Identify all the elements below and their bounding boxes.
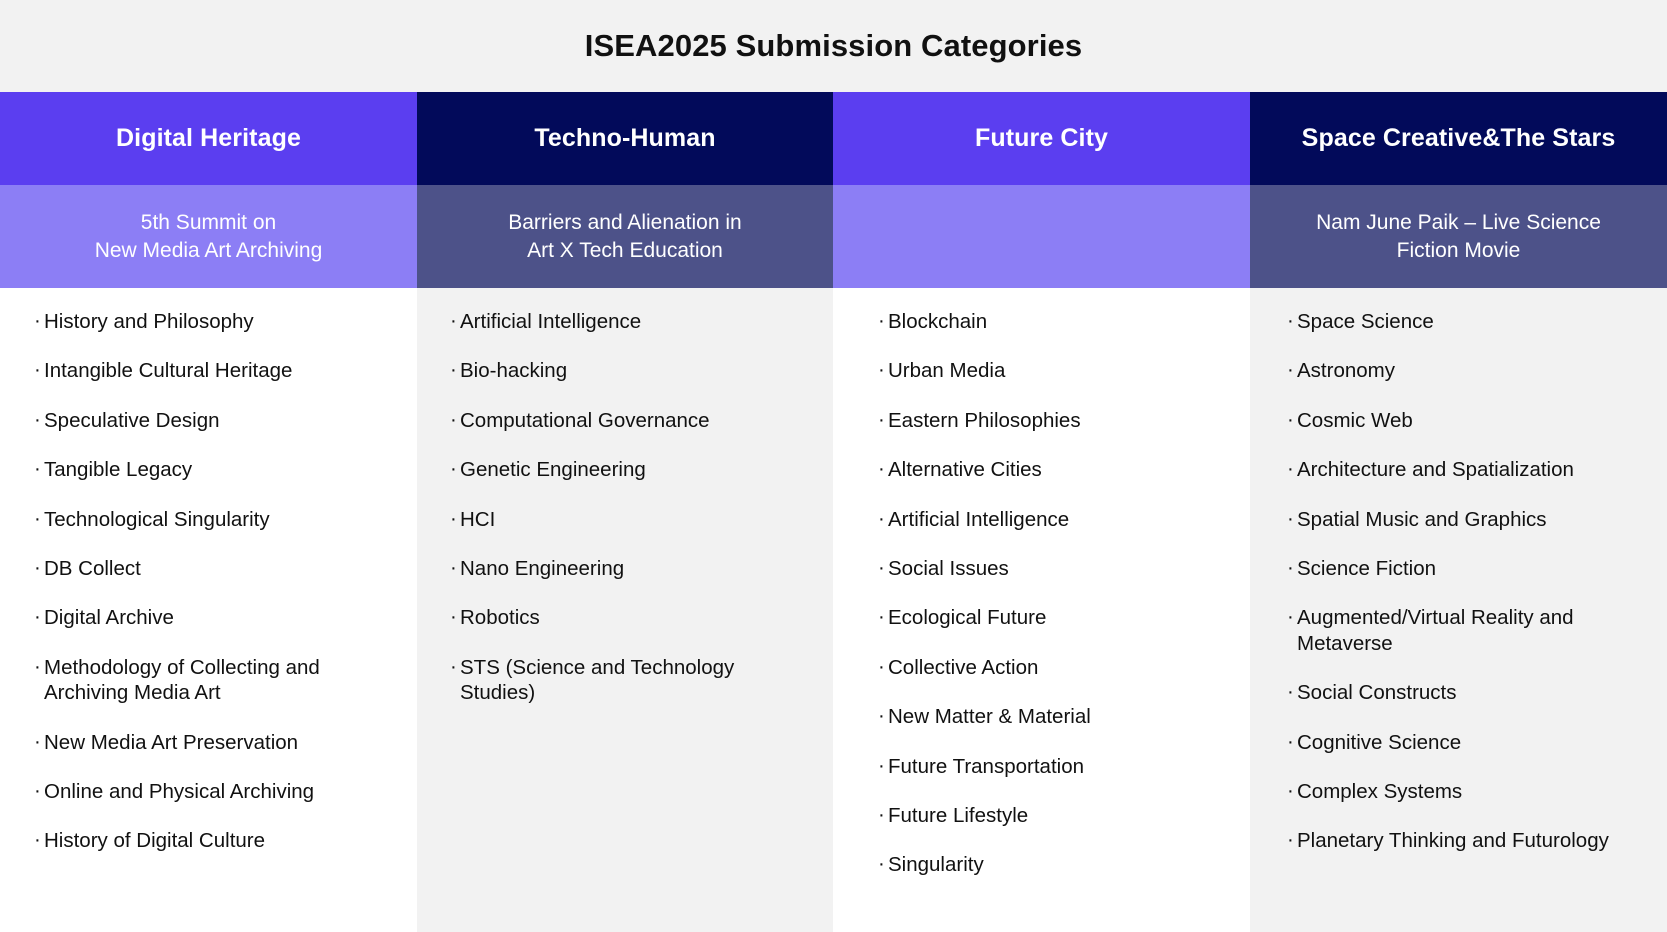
category-column-future-city: Future City BlockchainUrban MediaEastern… bbox=[833, 92, 1250, 932]
category-body-space-creative: Space ScienceAstronomyCosmic WebArchitec… bbox=[1250, 288, 1667, 932]
topic-item: Robotics bbox=[449, 605, 819, 630]
category-column-digital-heritage: Digital Heritage 5th Summit on New Media… bbox=[0, 92, 417, 932]
topic-item: Tangible Legacy bbox=[33, 457, 403, 482]
topic-item: DB Collect bbox=[33, 556, 403, 581]
topic-item: Space Science bbox=[1286, 309, 1653, 334]
category-title-digital-heritage: Digital Heritage bbox=[116, 124, 301, 153]
topic-item: Planetary Thinking and Futurology bbox=[1286, 828, 1653, 853]
category-body-digital-heritage: History and PhilosophyIntangible Cultura… bbox=[0, 288, 417, 932]
category-body-techno-human: Artificial IntelligenceBio-hackingComput… bbox=[417, 288, 833, 932]
topic-item: Astronomy bbox=[1286, 358, 1653, 383]
topic-item: STS (Science and Technology Studies) bbox=[449, 655, 819, 706]
topic-item: Artificial Intelligence bbox=[877, 507, 1236, 532]
topic-item: Future Lifestyle bbox=[877, 803, 1236, 828]
category-subtitle-cell-techno-human: Barriers and Alienation in Art X Tech Ed… bbox=[417, 185, 833, 288]
topic-item: Complex Systems bbox=[1286, 779, 1653, 804]
topic-item: Artificial Intelligence bbox=[449, 309, 819, 334]
category-subtitle-cell-digital-heritage: 5th Summit on New Media Art Archiving bbox=[0, 185, 417, 288]
category-subtitle-digital-heritage: 5th Summit on New Media Art Archiving bbox=[95, 209, 323, 264]
category-header-digital-heritage: Digital Heritage bbox=[0, 92, 417, 185]
category-column-techno-human: Techno-Human Barriers and Alienation in … bbox=[417, 92, 833, 932]
category-title-space-creative: Space Creative&The Stars bbox=[1302, 124, 1616, 153]
topic-item: Collective Action bbox=[877, 655, 1236, 680]
topic-item: Online and Physical Archiving bbox=[33, 779, 403, 804]
topic-item: Eastern Philosophies bbox=[877, 408, 1236, 433]
submission-categories-page: ISEA2025 Submission Categories Digital H… bbox=[0, 0, 1667, 932]
topic-list-future-city: BlockchainUrban MediaEastern Philosophie… bbox=[877, 309, 1236, 878]
category-column-space-creative: Space Creative&The Stars Nam June Paik –… bbox=[1250, 92, 1667, 932]
topic-item: Alternative Cities bbox=[877, 457, 1236, 482]
title-bar: ISEA2025 Submission Categories bbox=[0, 0, 1667, 92]
topic-item: Digital Archive bbox=[33, 605, 403, 630]
topic-item: Blockchain bbox=[877, 309, 1236, 334]
topic-item: History and Philosophy bbox=[33, 309, 403, 334]
topic-item: Nano Engineering bbox=[449, 556, 819, 581]
topic-item: Social Issues bbox=[877, 556, 1236, 581]
topic-list-space-creative: Space ScienceAstronomyCosmic WebArchitec… bbox=[1286, 309, 1653, 854]
topic-item: Urban Media bbox=[877, 358, 1236, 383]
topic-item: Ecological Future bbox=[877, 605, 1236, 630]
topic-item: Future Transportation bbox=[877, 754, 1236, 779]
page-title: ISEA2025 Submission Categories bbox=[585, 28, 1082, 64]
topic-item: Social Constructs bbox=[1286, 680, 1653, 705]
topic-item: Cosmic Web bbox=[1286, 408, 1653, 433]
topic-item: Speculative Design bbox=[33, 408, 403, 433]
topic-item: Computational Governance bbox=[449, 408, 819, 433]
topic-list-digital-heritage: History and PhilosophyIntangible Cultura… bbox=[33, 309, 403, 854]
category-subtitle-cell-space-creative: Nam June Paik – Live Science Fiction Mov… bbox=[1250, 185, 1667, 288]
topic-item: HCI bbox=[449, 507, 819, 532]
topic-item: Intangible Cultural Heritage bbox=[33, 358, 403, 383]
category-subtitle-cell-future-city bbox=[833, 185, 1250, 288]
topic-item: New Media Art Preservation bbox=[33, 730, 403, 755]
category-header-future-city: Future City bbox=[833, 92, 1250, 185]
category-title-techno-human: Techno-Human bbox=[534, 124, 715, 153]
topic-item: Architecture and Spatialization bbox=[1286, 457, 1653, 482]
category-header-space-creative: Space Creative&The Stars bbox=[1250, 92, 1667, 185]
category-subtitle-space-creative: Nam June Paik – Live Science Fiction Mov… bbox=[1316, 209, 1601, 264]
topic-list-techno-human: Artificial IntelligenceBio-hackingComput… bbox=[449, 309, 819, 706]
topic-item: History of Digital Culture bbox=[33, 828, 403, 853]
category-columns: Digital Heritage 5th Summit on New Media… bbox=[0, 92, 1667, 932]
topic-item: Cognitive Science bbox=[1286, 730, 1653, 755]
topic-item: New Matter & Material bbox=[877, 704, 1236, 729]
category-header-techno-human: Techno-Human bbox=[417, 92, 833, 185]
topic-item: Science Fiction bbox=[1286, 556, 1653, 581]
topic-item: Bio-hacking bbox=[449, 358, 819, 383]
topic-item: Methodology of Collecting and Archiving … bbox=[33, 655, 403, 706]
topic-item: Augmented/Virtual Reality and Metaverse bbox=[1286, 605, 1653, 656]
category-title-future-city: Future City bbox=[975, 124, 1108, 153]
category-subtitle-techno-human: Barriers and Alienation in Art X Tech Ed… bbox=[508, 209, 741, 264]
topic-item: Genetic Engineering bbox=[449, 457, 819, 482]
topic-item: Spatial Music and Graphics bbox=[1286, 507, 1653, 532]
category-body-future-city: BlockchainUrban MediaEastern Philosophie… bbox=[833, 288, 1250, 932]
topic-item: Singularity bbox=[877, 852, 1236, 877]
topic-item: Technological Singularity bbox=[33, 507, 403, 532]
